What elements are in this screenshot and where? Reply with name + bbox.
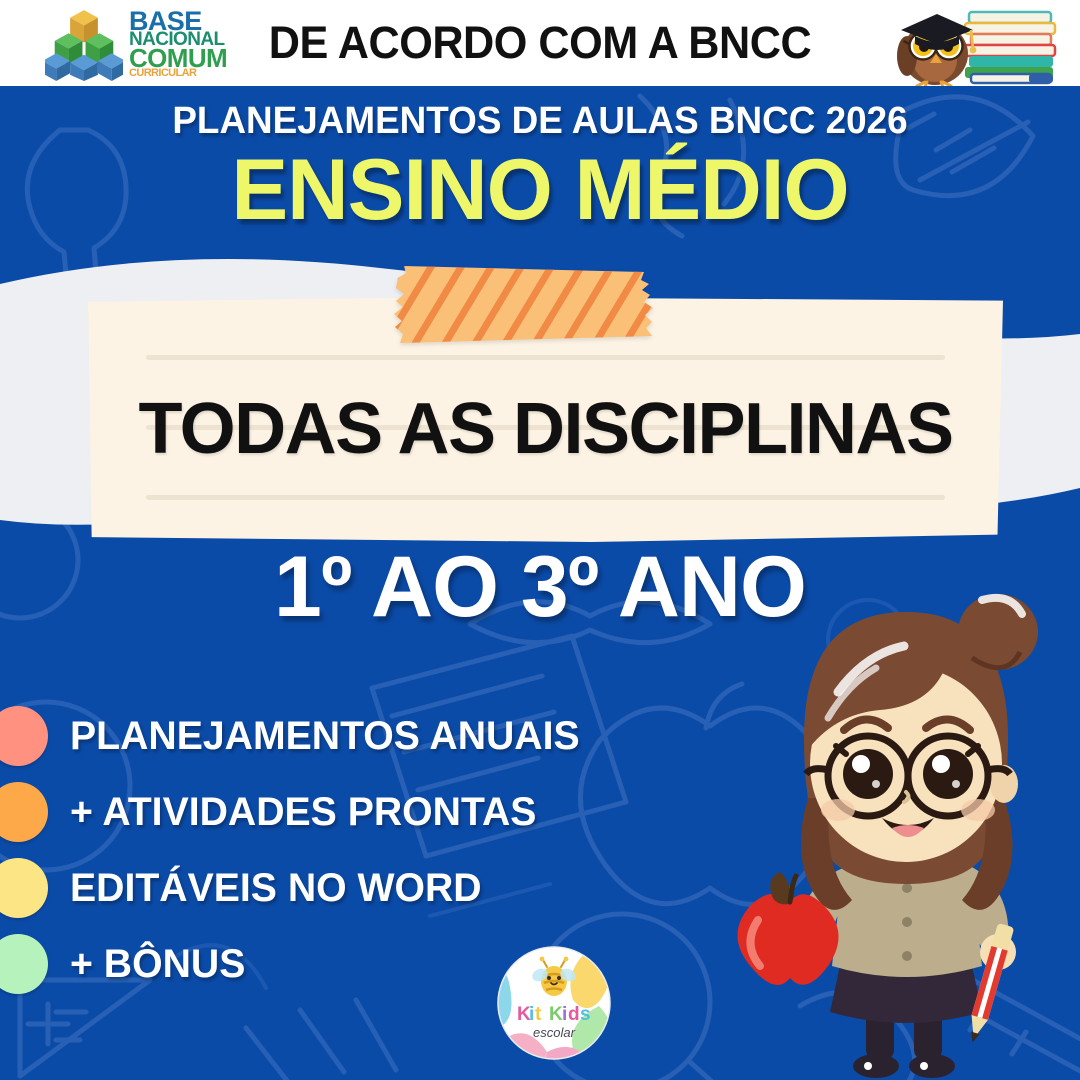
washi-tape-icon xyxy=(392,262,674,360)
promotional-poster: BASE NACIONAL COMUM CURRICULAR DE ACORDO… xyxy=(0,0,1080,1080)
svg-text:i: i xyxy=(529,1004,534,1025)
svg-text:escolar: escolar xyxy=(533,1025,576,1040)
svg-text:i: i xyxy=(562,1004,567,1025)
list-item: PLANEJAMENTOS ANUAIS xyxy=(0,700,780,772)
bullet-dot-icon xyxy=(0,782,48,842)
feature-label: EDITÁVEIS NO WORD xyxy=(70,866,482,911)
list-item: + ATIVIDADES PRONTAS xyxy=(0,776,780,848)
svg-text:t: t xyxy=(535,1004,542,1025)
svg-text:s: s xyxy=(580,1004,591,1025)
feature-label: + ATIVIDADES PRONTAS xyxy=(70,790,536,835)
kit-kids-logo: K i t K i d s escolar xyxy=(495,944,613,1062)
list-item: EDITÁVEIS NO WORD xyxy=(0,852,780,924)
headline-eyebrow: PLANEJAMENTOS DE AULAS BNCC 2026 xyxy=(16,100,1064,143)
bullet-dot-icon xyxy=(0,706,48,766)
teacher-character-icon xyxy=(686,588,1080,1080)
bullet-dot-icon xyxy=(0,858,48,918)
owl-icon xyxy=(877,2,1072,86)
headline-title: ENSINO MÉDIO xyxy=(5,147,1074,233)
bullet-dot-icon xyxy=(0,934,48,994)
svg-text:d: d xyxy=(568,1004,580,1025)
headline-block: PLANEJAMENTOS DE AULAS BNCC 2026 ENSINO … xyxy=(0,100,1080,233)
list-item: + BÔNUS xyxy=(0,928,780,1000)
feature-list: PLANEJAMENTOS ANUAIS + ATIVIDADES PRONTA… xyxy=(0,700,780,1004)
card-title: TODAS AS DISCIPLINAS xyxy=(88,393,1003,465)
feature-label: + BÔNUS xyxy=(70,942,245,987)
svg-text:K: K xyxy=(549,1004,563,1025)
paper-rule-line xyxy=(146,495,945,500)
header-band: BASE NACIONAL COMUM CURRICULAR DE ACORDO… xyxy=(0,0,1080,86)
feature-label: PLANEJAMENTOS ANUAIS xyxy=(70,714,580,759)
